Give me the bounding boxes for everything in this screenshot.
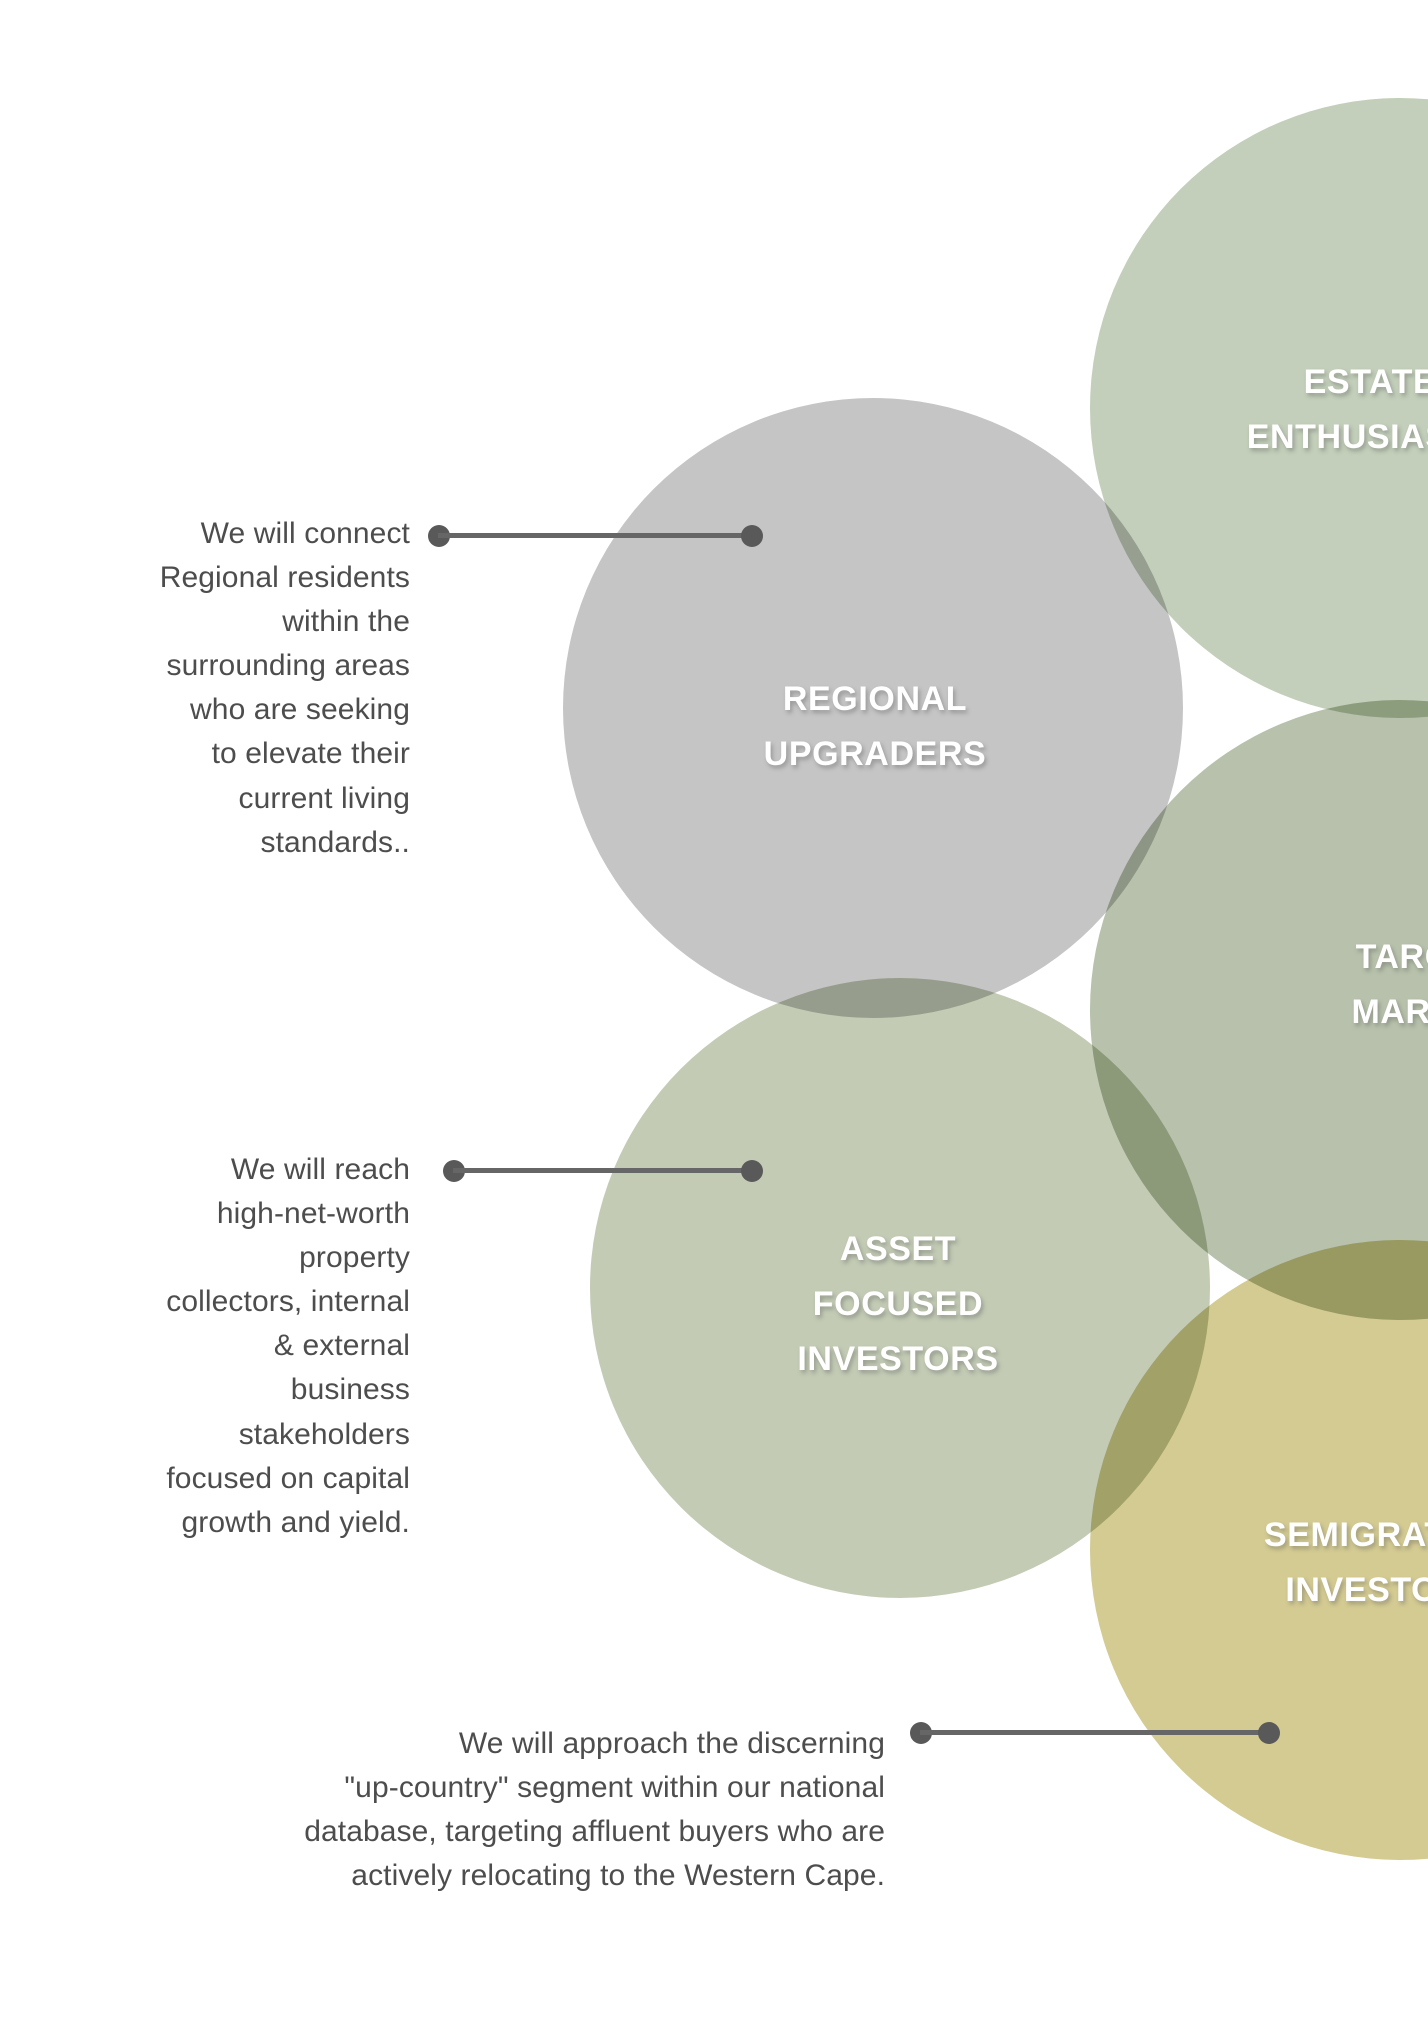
leader-dot-end-icon [1258,1722,1280,1744]
leader-line-asset-focused-investors [443,1160,763,1182]
callout-text-asset-focused-investors: We will reach high-net-worth property co… [60,1148,410,1545]
leader-line-semigration-investors [910,1722,1280,1744]
callout-text-regional-upgraders: We will connect Regional residents withi… [20,512,410,865]
leader-line-segment [453,1168,753,1173]
leader-dot-end-icon [741,1160,763,1182]
leader-line-segment [920,1730,1270,1735]
callout-text-semigration-investors: We will approach the discerning "up-coun… [10,1722,885,1898]
leader-line-segment [438,533,753,538]
diagram-canvas: ESTATE ENTHUSIASTS REGIONAL UPGRADERS TA… [0,0,1428,2018]
leader-line-regional-upgraders [428,525,763,547]
circle-regional-upgraders[interactable] [563,398,1183,1018]
leader-dot-end-icon [741,525,763,547]
